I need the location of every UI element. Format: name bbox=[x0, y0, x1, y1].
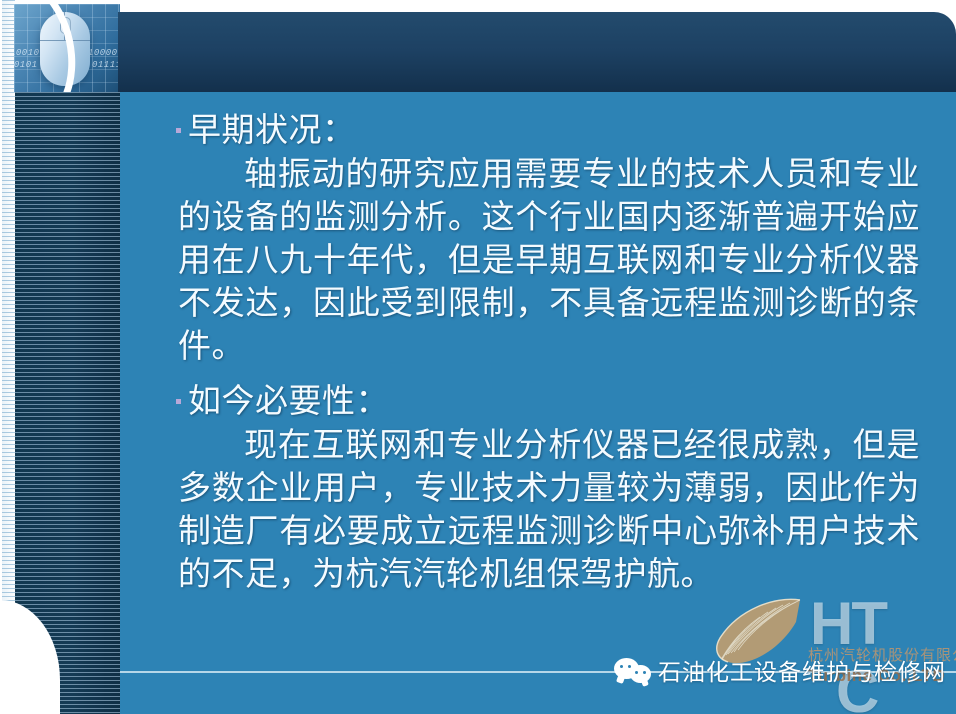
wechat-eye-dot bbox=[620, 665, 623, 668]
wechat-eye-dot bbox=[628, 665, 631, 668]
mouse-binary-graphic: 10010 00101 10000 0111111 bbox=[14, 4, 120, 92]
bullet-heading-1: 早期状况： bbox=[176, 110, 920, 152]
wechat-eye-dot bbox=[643, 671, 646, 674]
wechat-bubble-small bbox=[630, 665, 651, 683]
bullet-square-icon bbox=[176, 399, 188, 404]
wechat-icon bbox=[614, 655, 654, 685]
heading-text-1: 早期状况： bbox=[188, 110, 356, 152]
paragraph-2: 现在互联网和专业分析仪器已经很成熟，但是多数企业用户，专业技术力量较为薄弱，因此… bbox=[178, 425, 920, 597]
wechat-watermark: 石油化工设备维护与检修网 bbox=[614, 650, 946, 690]
bullet-heading-2: 如今必要性： bbox=[176, 381, 920, 423]
binary-text-right-top: 10000 bbox=[88, 48, 118, 58]
watermark-text: 石油化工设备维护与检修网 bbox=[658, 653, 946, 687]
slide-body-text: 早期状况： 轴振动的研究应用需要专业的技术人员和专业的设备的监测分析。这个行业国… bbox=[176, 110, 920, 596]
binary-text-right-bottom: 0111111 bbox=[92, 60, 120, 70]
presentation-slide: 10010 00101 10000 0111111 早期状况： 轴振动的研究应用… bbox=[0, 0, 956, 714]
slide-title-bar bbox=[118, 12, 956, 92]
wechat-eye-dot bbox=[635, 671, 638, 674]
bullet-square-icon bbox=[176, 128, 188, 133]
section-gap bbox=[176, 369, 920, 381]
paragraph-1: 轴振动的研究应用需要专业的技术人员和专业的设备的监测分析。这个行业国内逐渐普遍开… bbox=[178, 154, 920, 368]
heading-text-2: 如今必要性： bbox=[188, 381, 389, 423]
left-decorative-rail bbox=[0, 0, 120, 714]
